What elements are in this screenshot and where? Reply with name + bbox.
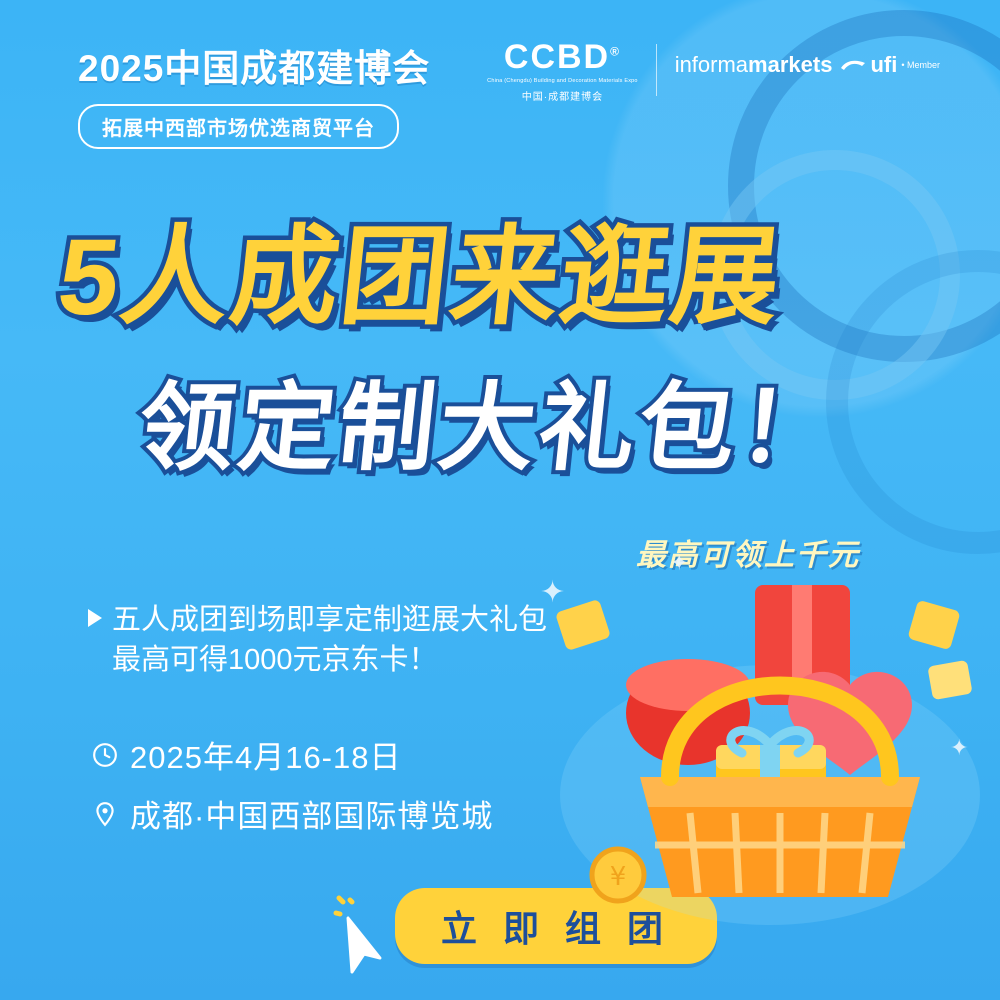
event-venue-row: 成都·中国西部国际博览城 xyxy=(92,791,493,836)
event-venue-text: 成都·中国西部国际博览城 xyxy=(130,791,493,836)
ufi-member-text: • Member xyxy=(901,60,940,70)
ufi-swoosh-icon xyxy=(840,57,866,73)
logo-group: CCBD® China (Chengdu) Building and Decor… xyxy=(487,40,940,103)
ccbd-english-name: China (Chengdu) Building and Decoration … xyxy=(487,78,638,85)
bullet-line-1: 五人成团到场即享定制逛展大礼包 xyxy=(112,600,547,640)
basket-graphic: ¥ xyxy=(520,545,990,945)
bullet-line-2: 最高可得1000元京东卡！ xyxy=(112,640,547,680)
location-pin-icon xyxy=(92,801,118,827)
event-info: 2025年4月16-18日 成都·中国西部国际博览城 xyxy=(92,732,493,850)
ccbd-wordmark: CCBD® xyxy=(487,40,638,74)
sparkle-icon: ✦ xyxy=(950,735,968,761)
headline-line-1: 5人成团来逛展 xyxy=(52,190,790,346)
brand-subtitle-badge: 拓展中西部市场优选商贸平台 xyxy=(78,104,399,149)
ufi-logo: ufi • Member xyxy=(840,52,940,78)
headline-line-2: 领定制大礼包！ xyxy=(133,350,848,489)
ccbd-logo: CCBD® China (Chengdu) Building and Decor… xyxy=(487,40,638,103)
gift-basket-illustration: ✦ ✦ ✦ xyxy=(520,545,990,945)
svg-text:¥: ¥ xyxy=(610,862,627,892)
sparkle-icon: ✦ xyxy=(670,550,688,576)
promo-poster: 2025中国成都建博会 拓展中西部市场优选商贸平台 CCBD® China (C… xyxy=(0,0,1000,1000)
cursor-click-icon xyxy=(330,892,404,978)
ufi-text: ufi xyxy=(870,52,897,78)
informa-markets-text: markets xyxy=(748,52,832,77)
logo-divider xyxy=(656,44,657,96)
informa-wordmark: informamarkets xyxy=(675,52,833,78)
ccbd-chinese-name: 中国·成都建博会 xyxy=(487,88,638,103)
triangle-bullet-icon xyxy=(88,609,102,627)
informa-text: informa xyxy=(675,52,748,77)
ccbd-registered-mark: ® xyxy=(610,45,621,59)
brand-block: 2025中国成都建博会 拓展中西部市场优选商贸平台 xyxy=(78,38,430,149)
sparkle-icon: ✦ xyxy=(540,575,565,610)
event-date-text: 2025年4月16-18日 xyxy=(130,732,402,777)
poster-header: 2025中国成都建博会 拓展中西部市场优选商贸平台 CCBD® China (C… xyxy=(0,30,1000,140)
bullet-item: 五人成团到场即享定制逛展大礼包 最高可得1000元京东卡！ xyxy=(88,600,547,680)
event-date-row: 2025年4月16-18日 xyxy=(92,732,493,777)
informa-markets-logo: informamarkets ufi • Member xyxy=(675,52,940,78)
clock-icon xyxy=(92,742,118,768)
bullet-text-block: 五人成团到场即享定制逛展大礼包 最高可得1000元京东卡！ xyxy=(112,600,547,680)
ccbd-wordmark-text: CCBD xyxy=(504,38,610,76)
bullet-list: 五人成团到场即享定制逛展大礼包 最高可得1000元京东卡！ xyxy=(88,600,547,680)
brand-title: 2025中国成都建博会 xyxy=(78,38,430,92)
